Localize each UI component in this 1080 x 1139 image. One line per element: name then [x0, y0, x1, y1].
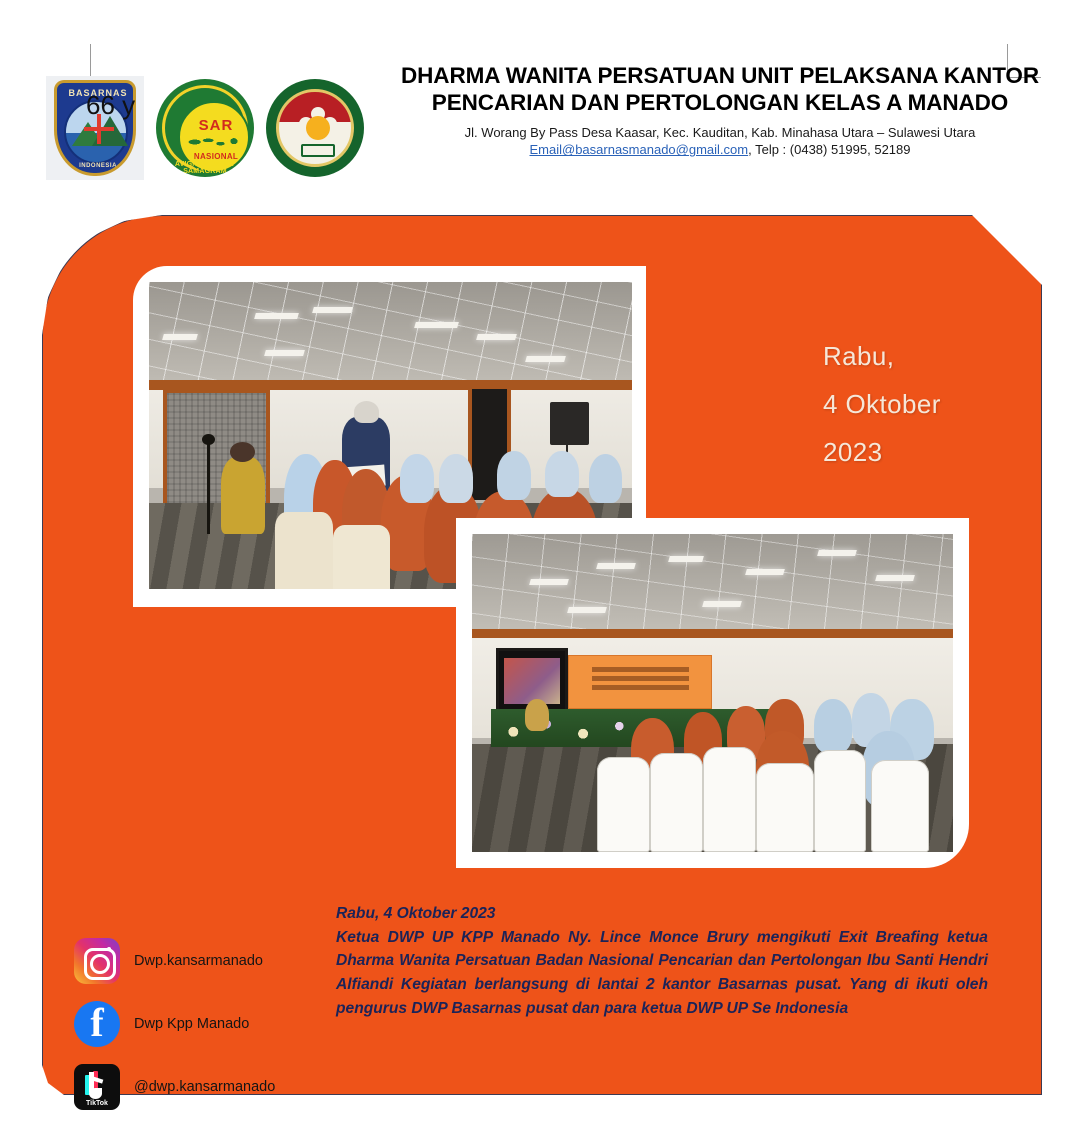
- photo-2-screen-content: [504, 658, 560, 704]
- sar-logo-subtext: NASIONAL: [180, 152, 252, 161]
- event-date-line-1: Rabu,: [823, 332, 1013, 380]
- photo-1-seat-cover: [275, 512, 333, 589]
- email-link[interactable]: Email@basarnasmanado@gmail.com: [530, 142, 749, 157]
- photo-1-ceiling: [149, 282, 632, 393]
- organization-contact-line: Email@basarnasmanado@gmail.com, Telp : (…: [400, 141, 1040, 159]
- photo-2-ceiling-light: [817, 550, 857, 556]
- instagram-handle: Dwp.kansarmanado: [134, 953, 263, 969]
- caption-date-line: Rabu, 4 Oktober 2023: [336, 902, 988, 926]
- sar-outer-ring: SAR NASIONAL: [162, 85, 248, 171]
- photo-2-attendee: [814, 699, 852, 753]
- dwp-flower-icon: [306, 116, 330, 140]
- organization-address: Jl. Worang By Pass Desa Kaasar, Kec. Kau…: [400, 124, 1040, 142]
- photo-2-image: [472, 534, 953, 852]
- basarnas-logo: BASARNAS INDONESIA 66 y: [46, 76, 144, 180]
- event-caption: Rabu, 4 Oktober 2023 Ketua DWP UP KPP Ma…: [336, 902, 988, 1020]
- photo-1-attendee: [400, 454, 434, 503]
- event-date-line-2: 4 Oktober: [823, 380, 1013, 428]
- instagram-lens-dot-icon: [107, 947, 111, 951]
- social-media-list: Dwp.kansarmanado Dwp Kpp Manado TikTok @…: [74, 938, 275, 1110]
- photo-1-ceiling-light: [525, 356, 565, 362]
- photo-1-ceiling-light: [163, 334, 199, 340]
- dharma-wanita-logo: [266, 79, 364, 177]
- photo-1-ceiling-light: [312, 307, 352, 313]
- photo-2-banner-text-lines: [592, 667, 689, 672]
- dwp-book-icon: [301, 144, 335, 157]
- social-row-facebook[interactable]: Dwp Kpp Manado: [74, 1001, 275, 1047]
- photo-2-event-banner: [568, 655, 712, 709]
- photo-1-ceiling-light: [254, 313, 299, 319]
- basarnas-logo-text-bottom: INDONESIA: [57, 163, 136, 169]
- photo-1-attendee: [589, 454, 623, 503]
- sar-logo-text: SAR: [180, 117, 252, 134]
- caption-body-text: Ketua DWP UP KPP Manado Ny. Lince Monce …: [336, 926, 988, 1021]
- event-date-line-3: 2023: [823, 428, 1013, 476]
- tiktok-icon[interactable]: TikTok: [74, 1064, 120, 1110]
- photo-2-ceiling-light: [567, 607, 607, 613]
- photo-2-chair: [756, 763, 814, 852]
- anniversary-badge-overlay: 66 y: [86, 90, 135, 121]
- photo-2-chair: [650, 753, 703, 852]
- tiktok-note-glyph-icon: [89, 1072, 94, 1092]
- photo-1-ceiling-light: [264, 350, 304, 356]
- letterhead-header: BASARNAS INDONESIA 66 y SAR NASIO: [0, 0, 1080, 218]
- photo-2-chair: [703, 747, 756, 852]
- dwp-emblem-disc: [276, 89, 354, 167]
- indonesia-map-icon: [188, 134, 244, 150]
- event-date-block: Rabu, 4 Oktober 2023: [823, 332, 1013, 476]
- photo-2-ceiling-light: [745, 569, 785, 575]
- facebook-handle: Dwp Kpp Manado: [134, 1016, 249, 1032]
- photo-2-ceiling: [472, 534, 953, 642]
- photo-2-speaker-at-podium: [525, 699, 549, 731]
- photo-1-ceiling-light: [414, 322, 459, 328]
- tiktok-handle: @dwp.kansarmanado: [134, 1079, 275, 1095]
- tiktok-brand-label: TikTok: [74, 1100, 120, 1107]
- photo-2-ceiling-light: [702, 601, 742, 607]
- photo-1-ceiling-light: [477, 334, 517, 340]
- photo-2-chair: [597, 757, 650, 852]
- social-row-tiktok[interactable]: TikTok @dwp.kansarmanado: [74, 1064, 275, 1110]
- photo-2-ceiling-light: [529, 579, 569, 585]
- phone-text: , Telp : (0438) 51995, 52189: [748, 142, 910, 157]
- basarnas-compass-icon: [88, 118, 110, 140]
- photo-1-speaking-person: [221, 457, 264, 534]
- photo-2-ceiling-light: [668, 556, 703, 562]
- photo-1-seat-cover: [333, 525, 391, 589]
- photo-1-attendee: [497, 451, 531, 500]
- photo-2-wall-beam: [472, 629, 953, 638]
- photo-1-loudspeaker: [550, 402, 589, 445]
- photo-auditorium-exit-briefing: [456, 518, 969, 868]
- photo-2-chair: [871, 760, 929, 852]
- photo-1-attendee: [439, 454, 473, 503]
- photo-1-microphone-stand: [207, 442, 210, 534]
- photo-2-ceiling-light: [875, 575, 915, 581]
- logo-group: BASARNAS INDONESIA 66 y SAR NASIO: [46, 76, 364, 180]
- sar-motto-text: AVIGNAM JAGAT SAMAGRAM: [156, 161, 254, 175]
- facebook-icon[interactable]: [74, 1001, 120, 1047]
- photo-2-chair: [814, 750, 867, 852]
- poster-page: BASARNAS INDONESIA 66 y SAR NASIO: [0, 0, 1080, 1139]
- letterhead-text-block: DHARMA WANITA PERSATUAN UNIT PELAKSANA K…: [400, 62, 1040, 159]
- sar-nasional-logo: SAR NASIONAL AVIGNAM JAGAT SAMAGRAM: [156, 79, 254, 177]
- photo-1-attendee: [545, 451, 579, 497]
- instagram-icon[interactable]: [74, 938, 120, 984]
- social-row-instagram[interactable]: Dwp.kansarmanado: [74, 938, 275, 984]
- photo-2-ceiling-light: [596, 563, 636, 569]
- organization-title: DHARMA WANITA PERSATUAN UNIT PELAKSANA K…: [400, 62, 1040, 117]
